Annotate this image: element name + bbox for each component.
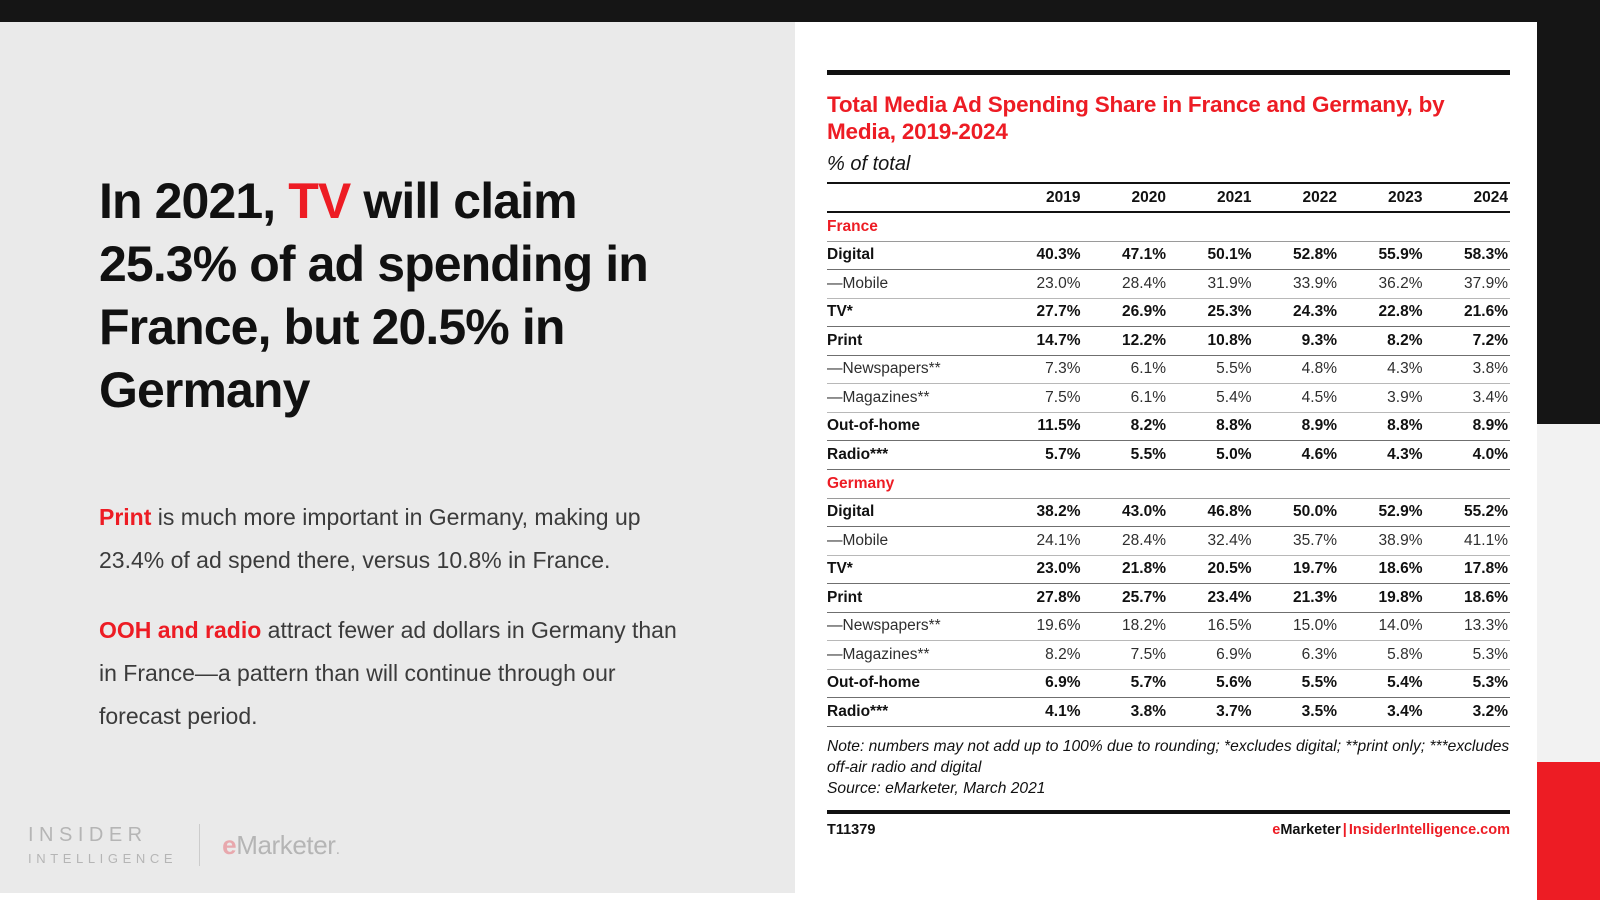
cell-value: 25.7% — [1083, 584, 1169, 613]
emarketer-logo-rest: Marketer — [236, 830, 335, 860]
cell-value: 10.8% — [1168, 327, 1254, 356]
left-content-panel: In 2021, TV will claim 25.3% of ad spend… — [0, 22, 795, 893]
chart-id: T11379 — [827, 822, 875, 838]
emarketer-logo: eMarketer. — [222, 830, 340, 861]
cell-value: 24.1% — [997, 527, 1083, 556]
page-title: In 2021, TV will claim 25.3% of ad spend… — [99, 170, 719, 422]
cell-value: 55.9% — [1339, 241, 1425, 270]
row-label: TV* — [827, 555, 997, 584]
table-row: Out-of-home6.9%5.7%5.6%5.5%5.4%5.3% — [827, 669, 1510, 698]
chart-panel: Total Media Ad Spending Share in France … — [827, 70, 1510, 838]
paragraph-print-rest: is much more important in Germany, makin… — [99, 504, 641, 573]
cell-value: 5.5% — [1254, 669, 1340, 698]
cell-value: 15.0% — [1254, 612, 1340, 641]
region-header-row: Germany — [827, 469, 1510, 498]
cell-value: 41.1% — [1425, 527, 1511, 556]
cell-value: 3.5% — [1254, 698, 1340, 727]
table-row: Print27.8%25.7%23.4%21.3%19.8%18.6% — [827, 584, 1510, 613]
cell-value: 3.8% — [1425, 355, 1511, 384]
row-label: Print — [827, 584, 997, 613]
table-row: Digital40.3%47.1%50.1%52.8%55.9%58.3% — [827, 241, 1510, 270]
footer-brand: eMarketer|InsiderIntelligence.com — [1272, 822, 1510, 838]
region-name: France — [827, 212, 1510, 241]
cell-value: 16.5% — [1168, 612, 1254, 641]
cell-value: 55.2% — [1425, 498, 1511, 527]
table-head: 2019 2020 2021 2022 2023 2024 — [827, 183, 1510, 212]
cell-value: 4.5% — [1254, 384, 1340, 413]
footer-brand-separator: | — [1341, 822, 1349, 838]
cell-value: 13.3% — [1425, 612, 1511, 641]
cell-value: 33.9% — [1254, 270, 1340, 299]
cell-value: 4.3% — [1339, 441, 1425, 470]
paragraph-ooh-radio-lead: OOH and radio — [99, 617, 261, 643]
cell-value: 8.9% — [1254, 412, 1340, 441]
top-decorative-bar — [0, 0, 1537, 22]
table-row: —Newspapers**7.3%6.1%5.5%4.8%4.3%3.8% — [827, 355, 1510, 384]
table-row: Print14.7%12.2%10.8%9.3%8.2%7.2% — [827, 327, 1510, 356]
region-header-row: France — [827, 212, 1510, 241]
cell-value: 7.2% — [1425, 327, 1511, 356]
cell-value: 18.6% — [1425, 584, 1511, 613]
cell-value: 23.0% — [997, 270, 1083, 299]
insider-logo-line-2: INTELLIGENCE — [28, 851, 177, 866]
cell-value: 18.2% — [1083, 612, 1169, 641]
cell-value: 14.7% — [997, 327, 1083, 356]
chart-title: Total Media Ad Spending Share in France … — [827, 91, 1510, 145]
cell-value: 40.3% — [997, 241, 1083, 270]
cell-value: 3.8% — [1083, 698, 1169, 727]
table-row: TV*23.0%21.8%20.5%19.7%18.6%17.8% — [827, 555, 1510, 584]
cell-value: 6.1% — [1083, 355, 1169, 384]
cell-value: 11.5% — [997, 412, 1083, 441]
paragraph-print-lead: Print — [99, 504, 151, 530]
cell-value: 3.4% — [1425, 384, 1511, 413]
cell-value: 31.9% — [1168, 270, 1254, 299]
footer-brand-marketer: Marketer — [1280, 822, 1340, 838]
cell-value: 9.3% — [1254, 327, 1340, 356]
table-row: Radio***4.1%3.8%3.7%3.5%3.4%3.2% — [827, 698, 1510, 727]
chart-notes: Note: numbers may not add up to 100% due… — [827, 736, 1510, 799]
cell-value: 20.5% — [1168, 555, 1254, 584]
row-label: —Magazines** — [827, 384, 997, 413]
footer-brand-website[interactable]: InsiderIntelligence.com — [1349, 822, 1510, 838]
cell-value: 14.0% — [1339, 612, 1425, 641]
column-header-2019: 2019 — [997, 183, 1083, 212]
cell-value: 5.5% — [1168, 355, 1254, 384]
column-header-2023: 2023 — [1339, 183, 1425, 212]
cell-value: 50.1% — [1168, 241, 1254, 270]
table-row: Out-of-home11.5%8.2%8.8%8.9%8.8%8.9% — [827, 412, 1510, 441]
insider-logo-line-1: INSIDER — [28, 824, 177, 847]
table-row: —Mobile23.0%28.4%31.9%33.9%36.2%37.9% — [827, 270, 1510, 299]
table-row: —Mobile24.1%28.4%32.4%35.7%38.9%41.1% — [827, 527, 1510, 556]
cell-value: 3.2% — [1425, 698, 1511, 727]
cell-value: 6.3% — [1254, 641, 1340, 670]
row-label: Radio*** — [827, 698, 997, 727]
cell-value: 25.3% — [1168, 298, 1254, 327]
cell-value: 5.7% — [1083, 669, 1169, 698]
cell-value: 37.9% — [1425, 270, 1511, 299]
data-table: 2019 2020 2021 2022 2023 2024 FranceDigi… — [827, 182, 1510, 727]
cell-value: 12.2% — [1083, 327, 1169, 356]
cell-value: 19.6% — [997, 612, 1083, 641]
paragraph-print: Print is much more important in Germany,… — [99, 496, 699, 582]
row-label: Out-of-home — [827, 669, 997, 698]
cell-value: 5.5% — [1083, 441, 1169, 470]
cell-value: 23.0% — [997, 555, 1083, 584]
row-label: Radio*** — [827, 441, 997, 470]
row-label: —Newspapers** — [827, 355, 997, 384]
cell-value: 28.4% — [1083, 527, 1169, 556]
cell-value: 4.6% — [1254, 441, 1340, 470]
cell-value: 7.5% — [997, 384, 1083, 413]
chart-subtitle: % of total — [827, 153, 1510, 176]
cell-value: 21.6% — [1425, 298, 1511, 327]
cell-value: 22.8% — [1339, 298, 1425, 327]
cell-value: 26.9% — [1083, 298, 1169, 327]
cell-value: 5.3% — [1425, 641, 1511, 670]
cell-value: 32.4% — [1168, 527, 1254, 556]
cell-value: 27.7% — [997, 298, 1083, 327]
column-header-2022: 2022 — [1254, 183, 1340, 212]
cell-value: 8.2% — [997, 641, 1083, 670]
brand-logo-lockup: INSIDER INTELLIGENCE eMarketer. — [28, 824, 340, 866]
chart-footer: T11379 eMarketer|InsiderIntelligence.com — [827, 822, 1510, 838]
chart-source-text: Source: eMarketer, March 2021 — [827, 778, 1510, 799]
emarketer-logo-e: e — [222, 830, 236, 860]
column-header-2024: 2024 — [1425, 183, 1511, 212]
cell-value: 47.1% — [1083, 241, 1169, 270]
region-name: Germany — [827, 469, 1510, 498]
cell-value: 38.9% — [1339, 527, 1425, 556]
table-row: TV*27.7%26.9%25.3%24.3%22.8%21.6% — [827, 298, 1510, 327]
row-label: Digital — [827, 241, 997, 270]
table-row: Radio***5.7%5.5%5.0%4.6%4.3%4.0% — [827, 441, 1510, 470]
cell-value: 52.9% — [1339, 498, 1425, 527]
cell-value: 5.8% — [1339, 641, 1425, 670]
cell-value: 21.8% — [1083, 555, 1169, 584]
cell-value: 36.2% — [1339, 270, 1425, 299]
row-label: —Mobile — [827, 270, 997, 299]
cell-value: 23.4% — [1168, 584, 1254, 613]
cell-value: 8.8% — [1339, 412, 1425, 441]
cell-value: 7.3% — [997, 355, 1083, 384]
row-label: Print — [827, 327, 997, 356]
cell-value: 58.3% — [1425, 241, 1511, 270]
right-decorative-bar-gray — [1537, 424, 1600, 762]
cell-value: 7.5% — [1083, 641, 1169, 670]
table-body: FranceDigital40.3%47.1%50.1%52.8%55.9%58… — [827, 212, 1510, 726]
cell-value: 4.3% — [1339, 355, 1425, 384]
table-header-row: 2019 2020 2021 2022 2023 2024 — [827, 183, 1510, 212]
cell-value: 5.7% — [997, 441, 1083, 470]
table-row: —Magazines**7.5%6.1%5.4%4.5%3.9%3.4% — [827, 384, 1510, 413]
logo-divider — [199, 824, 200, 866]
cell-value: 35.7% — [1254, 527, 1340, 556]
cell-value: 50.0% — [1254, 498, 1340, 527]
cell-value: 8.9% — [1425, 412, 1511, 441]
cell-value: 46.8% — [1168, 498, 1254, 527]
cell-value: 24.3% — [1254, 298, 1340, 327]
emarketer-logo-dot: . — [336, 841, 340, 858]
insider-intelligence-logo: INSIDER INTELLIGENCE — [28, 824, 177, 866]
cell-value: 38.2% — [997, 498, 1083, 527]
cell-value: 19.8% — [1339, 584, 1425, 613]
cell-value: 8.2% — [1339, 327, 1425, 356]
table-row: —Magazines**8.2%7.5%6.9%6.3%5.8%5.3% — [827, 641, 1510, 670]
cell-value: 3.4% — [1339, 698, 1425, 727]
cell-value: 6.1% — [1083, 384, 1169, 413]
row-label: —Magazines** — [827, 641, 997, 670]
cell-value: 3.7% — [1168, 698, 1254, 727]
cell-value: 5.3% — [1425, 669, 1511, 698]
cell-value: 17.8% — [1425, 555, 1511, 584]
headline-part-1: In 2021, — [99, 173, 288, 229]
cell-value: 19.7% — [1254, 555, 1340, 584]
cell-value: 4.8% — [1254, 355, 1340, 384]
cell-value: 6.9% — [1168, 641, 1254, 670]
right-decorative-bar-black — [1537, 0, 1600, 424]
chart-note-text: Note: numbers may not add up to 100% due… — [827, 736, 1510, 778]
cell-value: 8.8% — [1168, 412, 1254, 441]
cell-value: 43.0% — [1083, 498, 1169, 527]
table-row: —Newspapers**19.6%18.2%16.5%15.0%14.0%13… — [827, 612, 1510, 641]
table-row: Digital38.2%43.0%46.8%50.0%52.9%55.2% — [827, 498, 1510, 527]
row-label: TV* — [827, 298, 997, 327]
row-label: Out-of-home — [827, 412, 997, 441]
paragraph-ooh-radio: OOH and radio attract fewer ad dollars i… — [99, 609, 699, 738]
cell-value: 6.9% — [997, 669, 1083, 698]
cell-value: 4.1% — [997, 698, 1083, 727]
right-decorative-bar-red — [1537, 762, 1600, 900]
cell-value: 27.8% — [997, 584, 1083, 613]
slide-canvas: In 2021, TV will claim 25.3% of ad spend… — [0, 0, 1600, 900]
cell-value: 5.4% — [1168, 384, 1254, 413]
chart-top-rule — [827, 70, 1510, 75]
row-label: —Newspapers** — [827, 612, 997, 641]
chart-bottom-rule — [827, 810, 1510, 814]
cell-value: 5.0% — [1168, 441, 1254, 470]
cell-value: 5.6% — [1168, 669, 1254, 698]
row-label: —Mobile — [827, 527, 997, 556]
cell-value: 21.3% — [1254, 584, 1340, 613]
cell-value: 3.9% — [1339, 384, 1425, 413]
cell-value: 28.4% — [1083, 270, 1169, 299]
body-copy: Print is much more important in Germany,… — [99, 496, 699, 765]
cell-value: 5.4% — [1339, 669, 1425, 698]
headline-highlight: TV — [288, 173, 350, 229]
cell-value: 4.0% — [1425, 441, 1511, 470]
cell-value: 18.6% — [1339, 555, 1425, 584]
row-label: Digital — [827, 498, 997, 527]
cell-value: 8.2% — [1083, 412, 1169, 441]
cell-value: 52.8% — [1254, 241, 1340, 270]
column-header-label — [827, 183, 997, 212]
column-header-2021: 2021 — [1168, 183, 1254, 212]
column-header-2020: 2020 — [1083, 183, 1169, 212]
